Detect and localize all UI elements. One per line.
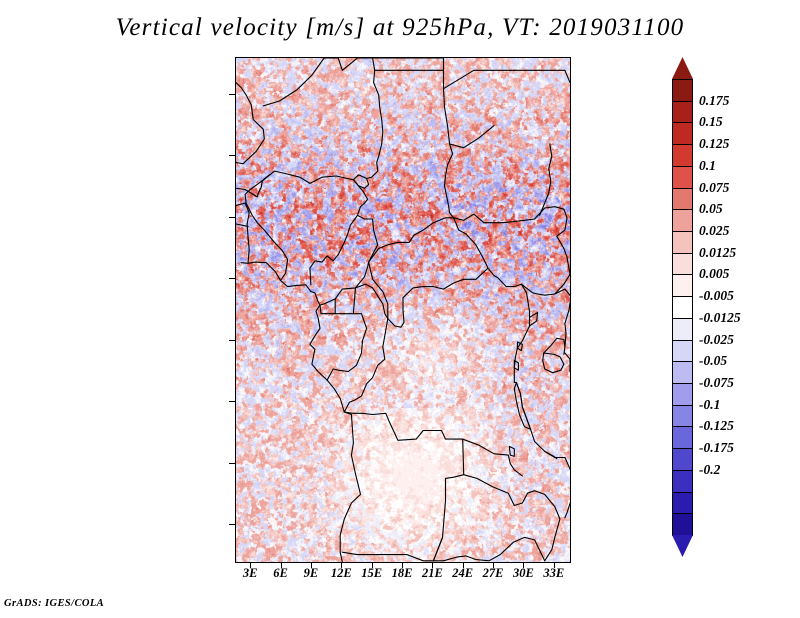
border-line (503, 207, 567, 223)
colorbar-tick-label: -0.025 (699, 332, 734, 348)
colorbar-segment (672, 296, 693, 319)
colorbar-segment (672, 122, 693, 145)
y-tick-mark (229, 340, 235, 341)
x-tick-label-6e: 6E (273, 566, 288, 581)
colorbar-tick-label: 0.175 (699, 93, 729, 109)
border-line (369, 262, 388, 319)
border-line (509, 446, 514, 456)
colorbar-segment (672, 448, 693, 471)
border-line (355, 284, 404, 327)
colorbar-tick-label: 0.005 (699, 266, 729, 282)
border-line (403, 268, 488, 298)
y-tick-mark (229, 463, 235, 464)
x-tick-label-24e: 24E (452, 566, 473, 581)
border-line (327, 288, 367, 380)
colorbar-tick-label: -0.05 (699, 353, 727, 369)
border-line (342, 552, 476, 561)
border-line (324, 58, 383, 179)
colorbar-segment (672, 426, 693, 449)
x-tick-mark (341, 562, 342, 568)
x-tick-mark (281, 562, 282, 568)
colorbar-segment (672, 166, 693, 189)
border-line (344, 412, 463, 561)
colorbar-tick-label: -0.175 (699, 440, 734, 456)
border-line (241, 262, 360, 562)
border-line (454, 214, 504, 223)
border-line (530, 313, 538, 327)
colorbar-tick-label: -0.1 (699, 397, 720, 413)
border-line (236, 83, 264, 164)
y-tick-mark (229, 278, 235, 279)
border-line (444, 70, 565, 88)
border-line (245, 175, 288, 281)
colorbar-segment (672, 492, 693, 515)
border-line (555, 274, 570, 294)
border-line (450, 126, 495, 148)
y-tick-mark (229, 155, 235, 156)
x-tick-mark (463, 562, 464, 568)
colorbar-segment (672, 253, 693, 276)
colorbar-segment (672, 231, 693, 254)
border-line (335, 299, 353, 314)
y-tick-mark (229, 217, 235, 218)
colorbar-segment (672, 101, 693, 124)
x-tick-mark (311, 562, 312, 568)
x-tick-label-3e: 3E (243, 566, 258, 581)
colorbar-tick-label: 0.15 (699, 114, 723, 130)
colorbar-segment (672, 188, 693, 211)
colorbar-segment (672, 79, 693, 102)
colorbar-segment (672, 318, 693, 341)
colorbar-tick-label: -0.075 (699, 375, 734, 391)
country-borders-overlay (236, 58, 570, 562)
x-tick-mark (554, 562, 555, 568)
colorbar-segment (672, 383, 693, 406)
colorbar-segment (672, 513, 693, 536)
border-line (236, 171, 353, 197)
grads-credit: GrADS: IGES/COLA (4, 598, 104, 609)
border-line (565, 289, 570, 347)
colorbar-cap-bottom (672, 535, 693, 557)
border-line (476, 537, 545, 560)
border-line (464, 475, 560, 561)
border-line (353, 175, 368, 189)
colorbar-tick-label: -0.2 (699, 462, 720, 478)
colorbar (672, 57, 693, 557)
border-line (565, 458, 570, 518)
x-tick-mark (402, 562, 403, 568)
y-tick-mark (229, 524, 235, 525)
border-line (565, 70, 570, 82)
y-tick-mark (229, 401, 235, 402)
x-tick-mark (372, 562, 373, 568)
colorbar-segment (672, 340, 693, 363)
colorbar-segment (672, 361, 693, 384)
border-line (540, 144, 552, 215)
border-line (557, 218, 570, 275)
colorbar-tick-label: -0.125 (699, 418, 734, 434)
x-tick-label-12e: 12E (331, 566, 352, 581)
border-line (263, 58, 324, 106)
x-tick-label-21e: 21E (422, 566, 443, 581)
colorbar-segment (672, 405, 693, 428)
map-plot-area (235, 57, 571, 563)
colorbar-tick-label: 0.1 (699, 158, 716, 174)
colorbar-tick-label: 0.125 (699, 136, 729, 152)
colorbar-tick-label: 0.05 (699, 201, 723, 217)
border-line (236, 224, 248, 226)
border-line (369, 218, 454, 262)
colorbar-tick-label: -0.0125 (699, 310, 741, 326)
border-line (544, 338, 565, 354)
x-tick-mark (523, 562, 524, 568)
x-tick-label-33e: 33E (543, 566, 564, 581)
border-line (463, 439, 523, 476)
colorbar-segment (672, 470, 693, 493)
x-tick-mark (250, 562, 251, 568)
border-line (344, 319, 388, 412)
border-line (454, 218, 565, 295)
page-title: Vertical velocity [m/s] at 925hPa, VT: 2… (0, 14, 800, 42)
y-tick-mark (229, 94, 235, 95)
x-tick-label-9e: 9E (304, 566, 319, 581)
border-line (236, 203, 249, 262)
colorbar-tick-label: 0.0125 (699, 245, 736, 261)
border-line (433, 537, 442, 560)
colorbar-segment (672, 144, 693, 167)
border-line (545, 451, 557, 458)
border-line (310, 215, 358, 284)
x-tick-mark (432, 562, 433, 568)
border-line (444, 58, 454, 218)
x-tick-label-18e: 18E (392, 566, 413, 581)
border-line (543, 353, 564, 373)
colorbar-segment (672, 209, 693, 232)
colorbar-tick-label: 0.025 (699, 223, 729, 239)
colorbar-cap-top (672, 57, 693, 79)
border-line (320, 305, 335, 314)
colorbar-segment (672, 274, 693, 297)
x-tick-mark (493, 562, 494, 568)
colorbar-tick-label: 0.075 (699, 180, 729, 196)
x-tick-label-27e: 27E (483, 566, 504, 581)
colorbar-tick-label: -0.005 (699, 288, 734, 304)
x-tick-label-15e: 15E (361, 566, 382, 581)
x-tick-label-30e: 30E (513, 566, 534, 581)
border-line (565, 353, 570, 372)
